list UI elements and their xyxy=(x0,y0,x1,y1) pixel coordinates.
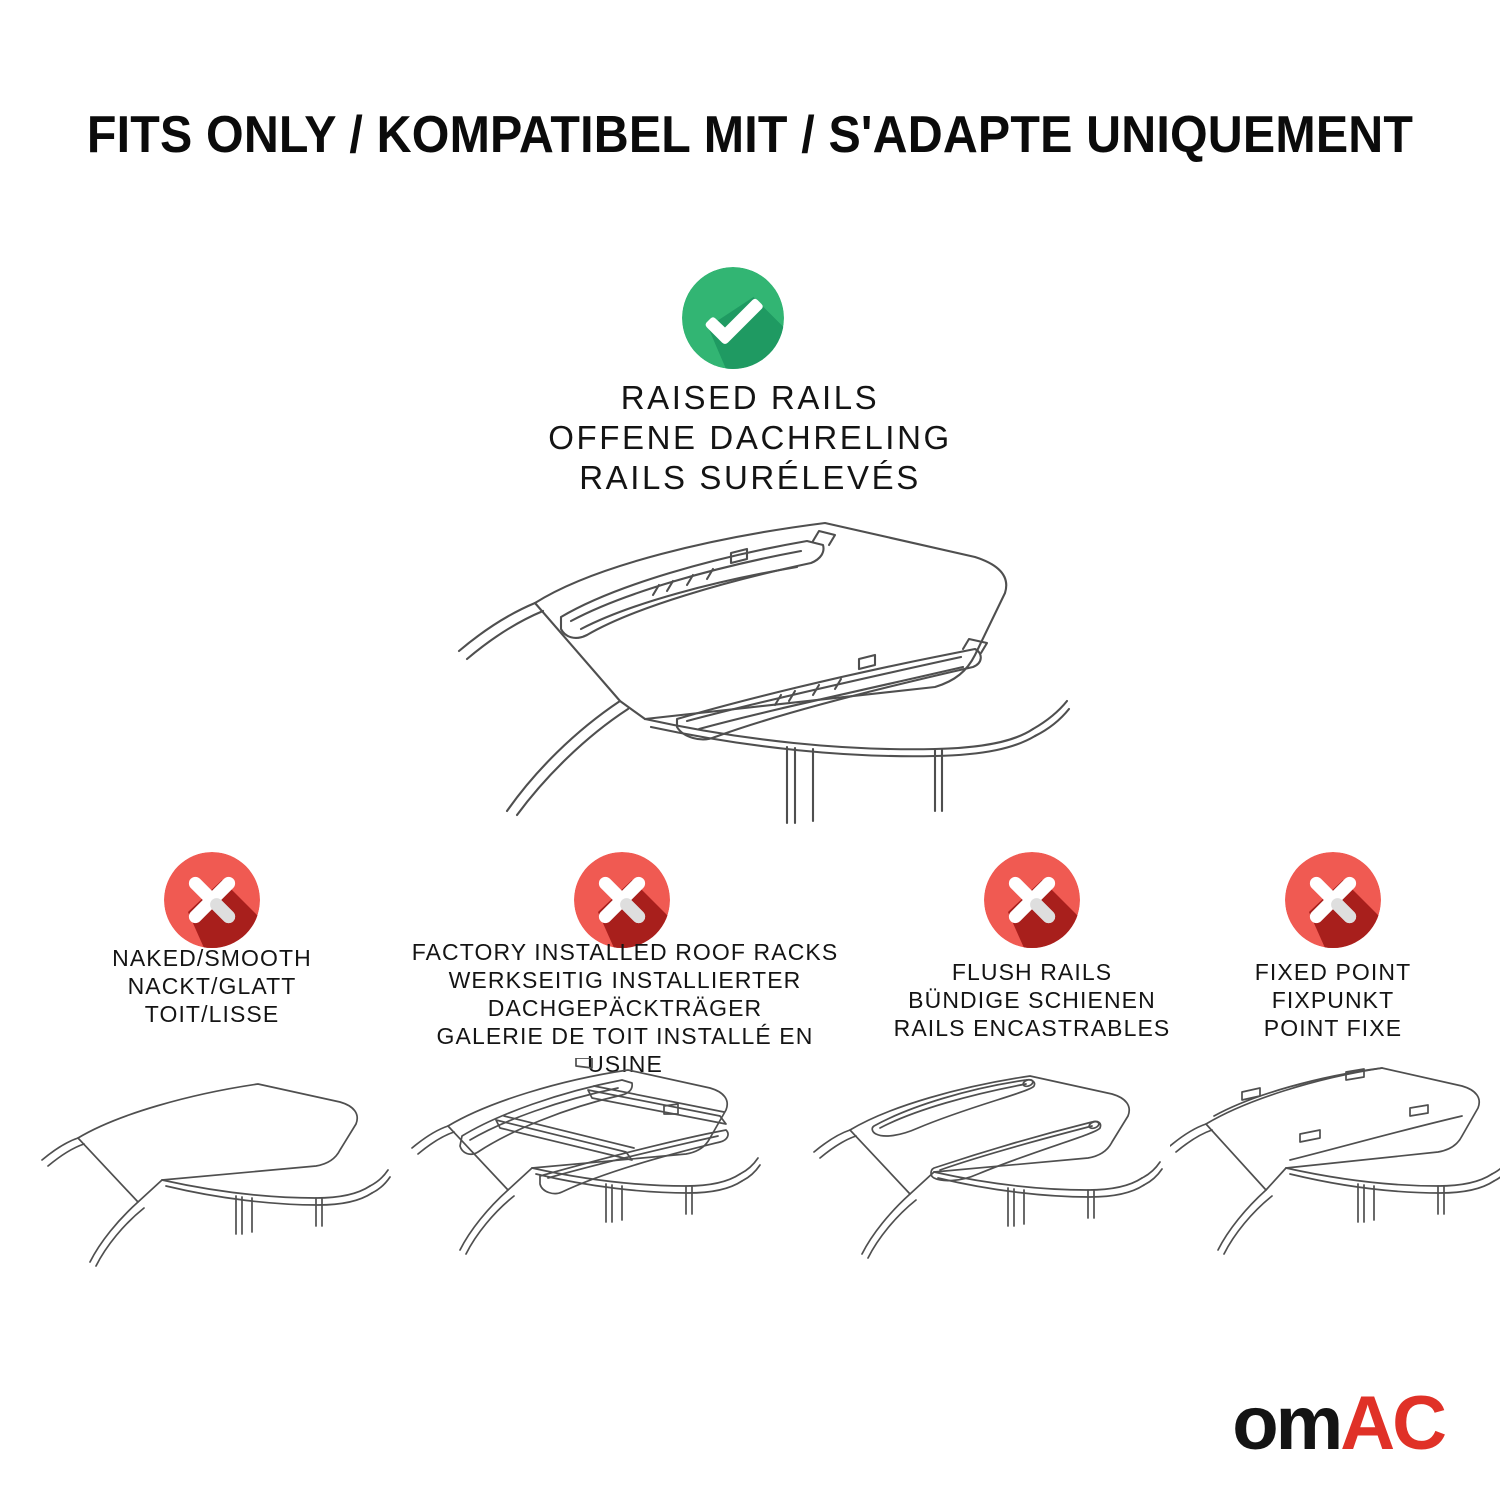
car-roof-fixed-point-illustration xyxy=(1170,1058,1500,1288)
incompatible-label-naked-smooth: NAKED/SMOOTH NACKT/GLATT TOIT/LISSE xyxy=(32,944,392,1028)
car-roof-raised-rails-illustration xyxy=(415,505,1095,835)
omac-logo: om AC xyxy=(1232,1386,1444,1462)
page-title: FITS ONLY / KOMPATIBEL MIT / S'ADAPTE UN… xyxy=(53,105,1448,165)
logo-text-dark: om xyxy=(1232,1386,1340,1462)
logo-text-red: AC xyxy=(1340,1386,1444,1462)
x-circle-icon xyxy=(984,852,1080,948)
compatible-label-de: OFFENE DACHRELING xyxy=(250,418,1250,458)
compatible-labels: RAISED RAILS OFFENE DACHRELING RAILS SUR… xyxy=(250,378,1250,498)
x-circle-icon xyxy=(164,852,260,948)
car-roof-factory-racks-illustration xyxy=(410,1058,770,1288)
check-circle-icon xyxy=(682,267,784,369)
car-roof-naked-smooth-illustration xyxy=(40,1058,400,1288)
compatible-label-fr: RAILS SURÉLEVÉS xyxy=(250,458,1250,498)
car-roof-flush-rails-illustration xyxy=(810,1058,1170,1288)
incompatible-label-flush-rails: FLUSH RAILS BÜNDIGE SCHIENEN RAILS ENCAS… xyxy=(852,958,1212,1042)
compatible-label-en: RAISED RAILS xyxy=(250,378,1250,418)
incompatible-label-factory-racks: FACTORY INSTALLED ROOF RACKS WERKSEITIG … xyxy=(400,938,850,1078)
x-circle-icon xyxy=(574,852,670,948)
x-circle-icon xyxy=(1285,852,1381,948)
incompatible-label-fixed-point: FIXED POINT FIXPUNKT POINT FIXE xyxy=(1183,958,1483,1042)
